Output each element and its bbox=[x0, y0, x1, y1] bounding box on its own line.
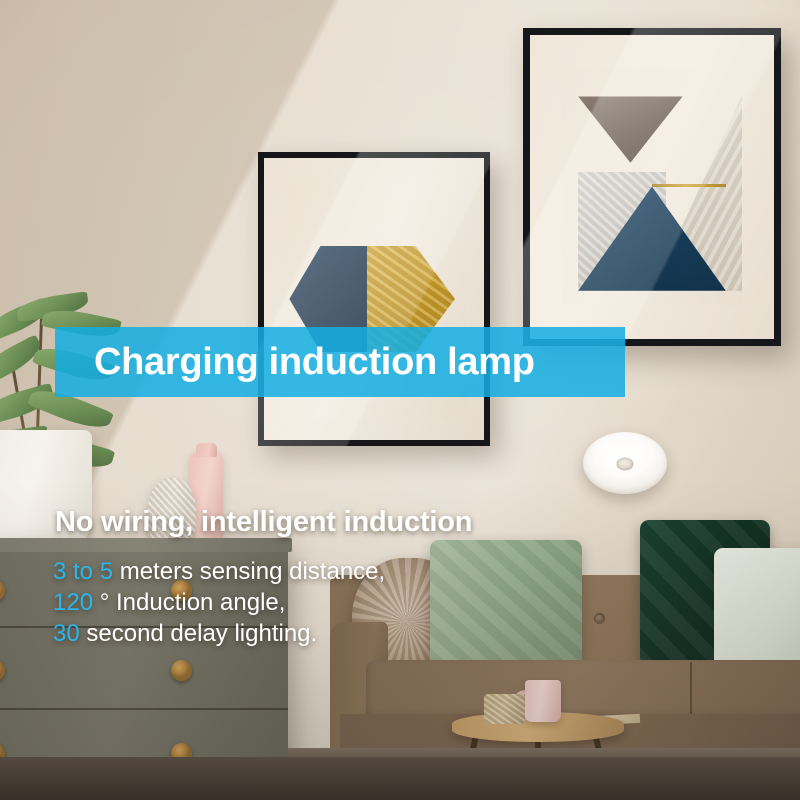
sofa-cushion-seam bbox=[690, 662, 692, 720]
feature-accent-value: 30 bbox=[53, 620, 80, 647]
gold-line-shape bbox=[652, 184, 726, 187]
dresser-knob[interactable] bbox=[0, 660, 5, 681]
headline-banner: Charging induction lamp bbox=[55, 327, 625, 397]
sage-green-pillow bbox=[430, 540, 582, 675]
dresser-knob[interactable] bbox=[0, 580, 5, 601]
sofa-tufting-button bbox=[594, 613, 605, 624]
feature-accent-value: 120 bbox=[53, 589, 93, 616]
lamp-sensor-dome-icon bbox=[617, 458, 634, 471]
sofa-seat-cushion bbox=[366, 660, 800, 722]
dresser-top-surface bbox=[0, 538, 292, 552]
feature-item: 30 second delay lighting. bbox=[53, 618, 385, 649]
brown-inverted-triangle-shape bbox=[578, 96, 682, 162]
cream-pillow bbox=[714, 548, 800, 670]
feature-label: meters sensing distance, bbox=[113, 558, 385, 585]
floor bbox=[0, 757, 800, 800]
artwork-right-frame bbox=[523, 28, 781, 346]
headline-text: Charging induction lamp bbox=[94, 341, 535, 384]
pink-mug bbox=[525, 680, 561, 722]
wicker-jar bbox=[484, 694, 525, 724]
feature-label: second delay lighting. bbox=[80, 620, 318, 647]
induction-lamp-product bbox=[583, 432, 667, 494]
artwork-left-frame bbox=[258, 152, 490, 446]
artwork-left-mat bbox=[264, 158, 484, 440]
product-marketing-scene: Charging induction lamp No wiring, intel… bbox=[0, 0, 800, 800]
artwork-right-mat bbox=[530, 35, 774, 339]
feature-list: 3 to 5 meters sensing distance, 120 ° In… bbox=[53, 556, 385, 649]
dresser-knob[interactable] bbox=[171, 660, 192, 681]
feature-item: 3 to 5 meters sensing distance, bbox=[53, 556, 385, 587]
feature-item: 120 ° Induction angle, bbox=[53, 587, 385, 618]
dresser-drawer-divider bbox=[0, 708, 288, 710]
feature-accent-value: 3 to 5 bbox=[53, 558, 113, 585]
feature-label: ° Induction angle, bbox=[93, 589, 285, 616]
artwork-right-canvas bbox=[562, 68, 742, 305]
subheadline-text: No wiring, intelligent induction bbox=[55, 506, 472, 539]
